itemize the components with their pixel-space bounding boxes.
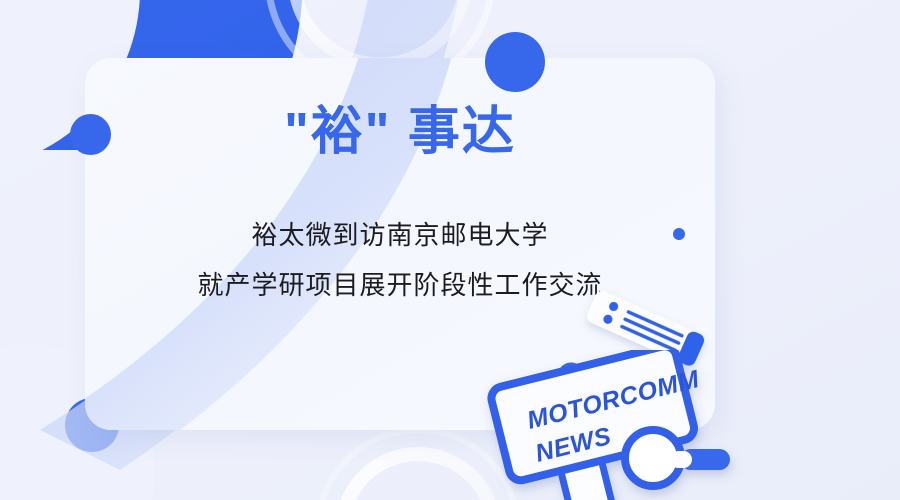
megaphone-icon: MOTORCOMM NEWS (480, 350, 770, 500)
subtitle-line-1: 裕太微到访南京邮电大学 (85, 220, 715, 251)
decor-dot-top (485, 32, 545, 92)
news-banner: "裕" 事达 裕太微到访南京邮电大学 就产学研项目展开阶段性工作交流 (0, 0, 900, 500)
page-title: "裕" 事达 (85, 104, 715, 161)
